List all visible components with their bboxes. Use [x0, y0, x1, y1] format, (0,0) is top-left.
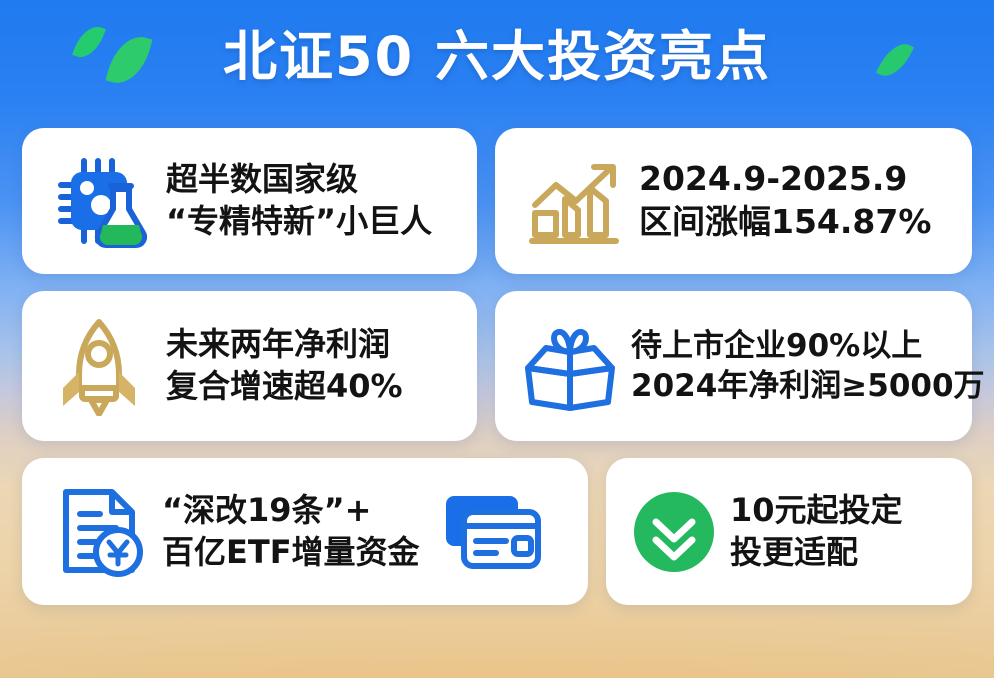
gift-box-icon: [511, 320, 629, 412]
highlight-card-6: 10元起投定 投更适配: [606, 458, 972, 605]
growth-bar-chart-icon: [515, 155, 633, 247]
highlight-card-1: 超半数国家级 “专精特新”小巨人: [22, 128, 477, 274]
highlight-card-3: 未来两年净利润 复合增速超40%: [22, 291, 477, 441]
highlights-grid: 超半数国家级 “专精特新”小巨人: [22, 128, 972, 622]
rocket-icon: [40, 316, 158, 416]
highlight-card-5-text: “深改19条”+ 百亿ETF增量资金: [162, 490, 420, 573]
credit-cards-icon: [432, 490, 552, 574]
highlight-card-4-text: 待上市企业90%以上 2024年净利润≥5000万: [631, 326, 985, 407]
highlight-card-2: 2024.9-2025.9 区间涨幅154.87%: [495, 128, 972, 274]
page-title: 北证50 六大投资亮点: [0, 26, 994, 88]
highlight-card-1-text: 超半数国家级 “专精特新”小巨人: [166, 159, 432, 242]
chip-flask-icon: [40, 153, 158, 249]
highlight-card-5: “深改19条”+ 百亿ETF增量资金: [22, 458, 588, 605]
highlight-card-3-text: 未来两年净利润 复合增速超40%: [166, 324, 403, 407]
infographic-poster: 北证50 六大投资亮点: [0, 0, 994, 678]
highlight-card-2-text: 2024.9-2025.9 区间涨幅154.87%: [639, 158, 931, 244]
document-yuan-icon: [44, 484, 156, 580]
green-double-check-icon: [622, 489, 726, 575]
highlight-card-6-text: 10元起投定 投更适配: [730, 490, 903, 573]
highlight-card-4: 待上市企业90%以上 2024年净利润≥5000万: [495, 291, 972, 441]
